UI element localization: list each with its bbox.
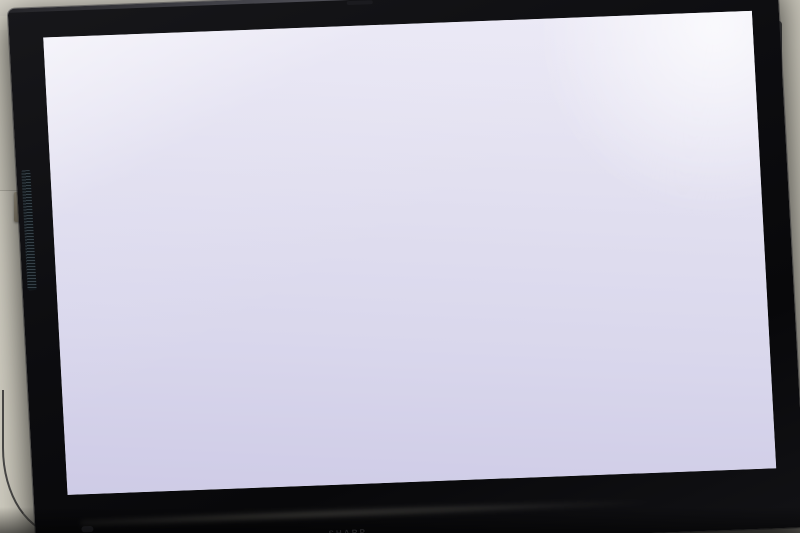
person-head <box>271 310 318 348</box>
photo-right: レベル アプリ 切り替え 60 正 一 120 正 正 一 <box>444 38 738 457</box>
necktie <box>653 195 661 236</box>
photo-bottom-center <box>212 289 488 466</box>
red-marker <box>532 180 543 186</box>
whiteboard-value: 60 <box>495 83 510 92</box>
sharp-display[interactable]: ゲーム評価風景 <box>8 0 800 533</box>
whiteboard-value: 120 <box>496 101 511 110</box>
blue-marker <box>559 176 576 185</box>
floor-shadow <box>0 507 800 533</box>
display-screen[interactable]: ゲーム評価風景 <box>43 11 776 495</box>
whiteboard-tally: 正 一 <box>516 79 542 92</box>
screenshot-root: ゲーム評価風景 <box>0 0 800 533</box>
whiteboard-row: 60 正 一 <box>494 72 620 94</box>
presentation-slide: ゲーム評価風景 <box>67 25 753 482</box>
